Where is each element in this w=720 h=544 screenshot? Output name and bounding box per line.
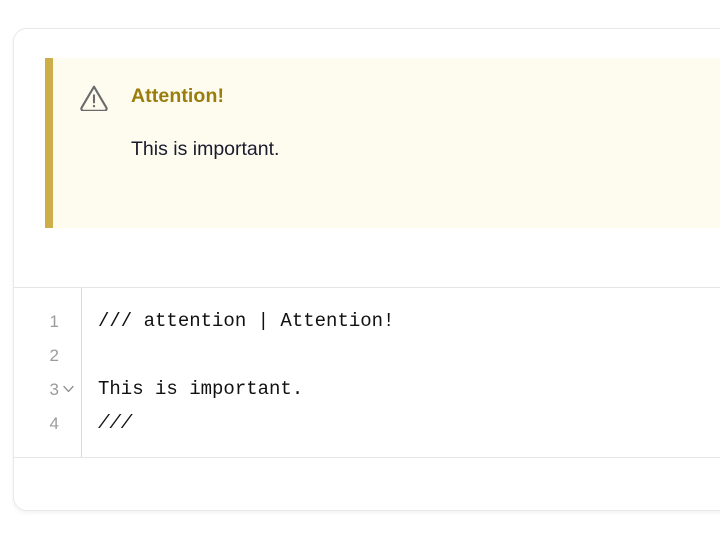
gutter-row: 1 [14, 304, 81, 338]
code-line[interactable] [98, 338, 720, 372]
line-number: 3 [50, 381, 59, 398]
line-number: 2 [50, 347, 59, 364]
code-line[interactable]: /// [98, 406, 720, 440]
card-footer [14, 458, 720, 510]
preview-card: Attention! This is important. 1 2 3 [13, 28, 720, 511]
admonition-title: Attention! [131, 87, 224, 107]
gutter-row: 4 [14, 406, 81, 440]
code-text-area[interactable]: /// attention | Attention! This is impor… [82, 304, 720, 457]
attention-admonition: Attention! This is important. [45, 58, 720, 228]
chevron-down-icon[interactable] [63, 385, 74, 393]
code-line[interactable]: This is important. [98, 372, 720, 406]
gutter-row: 2 [14, 338, 81, 372]
warning-triangle-icon [79, 84, 109, 111]
admonition-body-text: This is important. [131, 137, 720, 162]
line-number-gutter: 1 2 3 4 [14, 304, 81, 457]
line-number: 4 [50, 415, 59, 432]
admonition-accent-bar [45, 58, 53, 228]
admonition-title-row: Attention! [79, 84, 720, 110]
line-number: 1 [50, 313, 59, 330]
rendered-preview-pane: Attention! This is important. [14, 29, 720, 288]
gutter-row: 3 [14, 372, 81, 406]
source-code-pane[interactable]: 1 2 3 4 /// attention | [14, 288, 720, 458]
code-line[interactable]: /// attention | Attention! [98, 304, 720, 338]
admonition-content: Attention! This is important. [53, 58, 720, 228]
fold-slot[interactable] [59, 385, 77, 393]
